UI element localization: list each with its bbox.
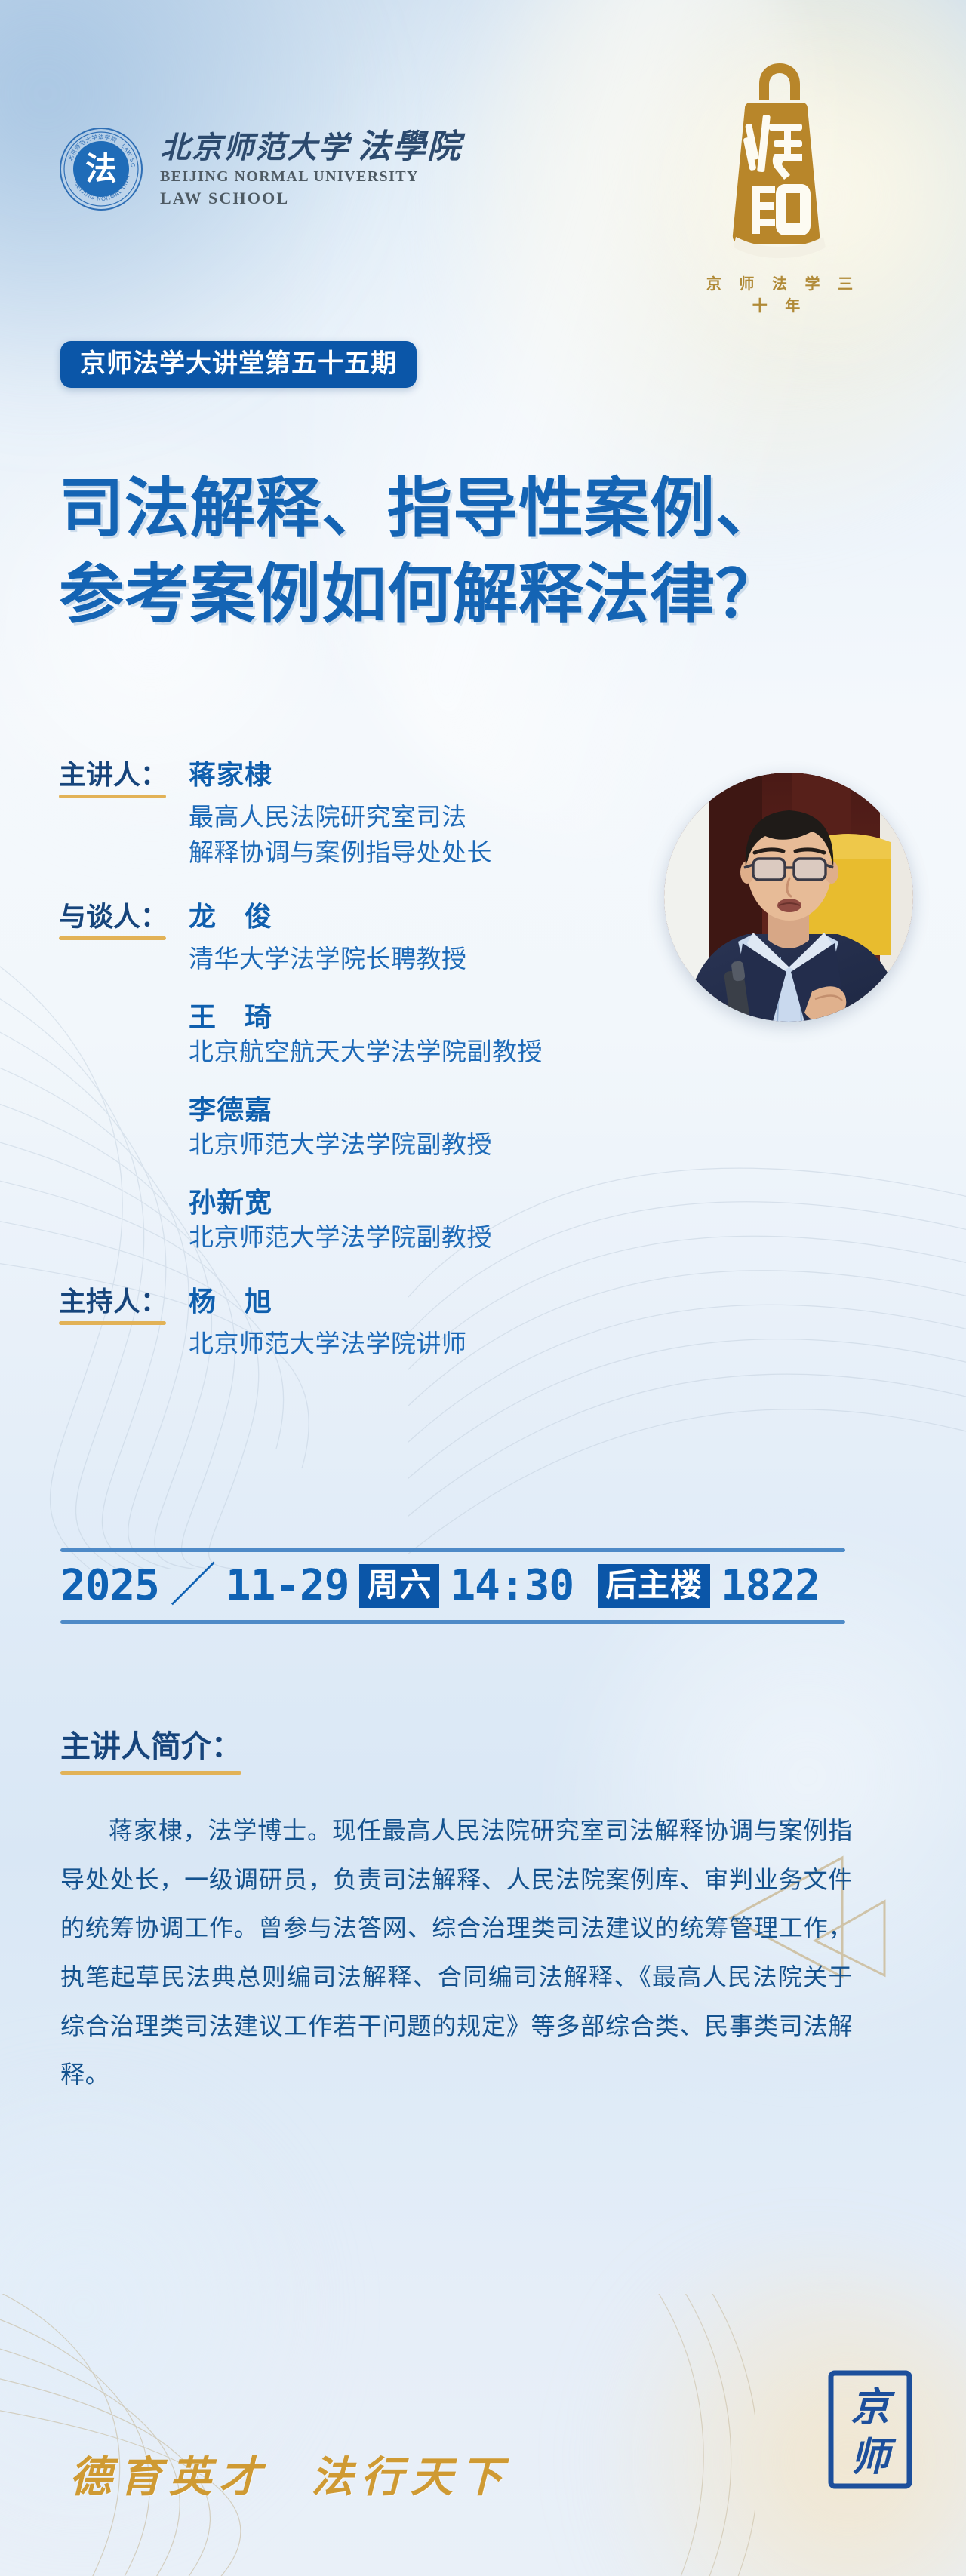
speaker-role-label: 主讲人： xyxy=(59,758,189,800)
discussant-role-label: 与谈人： xyxy=(59,899,189,942)
host-block: 主持人： 杨 旭 北京师范大学法学院讲师 xyxy=(59,1284,678,1362)
discussant-affiliation-3: 北京师范大学法学院副教授 xyxy=(189,1127,678,1163)
anniversary-caption: 京 师 法 学 三 十 年 xyxy=(685,272,874,315)
brand-unit-en: LAW SCHOOL xyxy=(160,189,462,208)
host-role-label: 主持人： xyxy=(59,1284,189,1326)
speaker-portrait xyxy=(664,773,913,1022)
host-affiliation: 北京师范大学法学院讲师 xyxy=(189,1326,678,1362)
schedule-weekday-chip: 周六 xyxy=(359,1564,439,1608)
discussant-name-1: 龙 俊 xyxy=(189,899,272,934)
svg-text:法: 法 xyxy=(85,152,117,187)
brand-name-chinese: 北京师范大学法學院 xyxy=(160,130,462,164)
bg-contour-lines-footer xyxy=(0,2294,755,2576)
discussant-name-3: 李德嘉 xyxy=(189,1093,678,1127)
discussant-name-4: 孙新宽 xyxy=(189,1185,678,1220)
event-poster: 法 北京师范大学法学院 · LAW SCHOOL BEIJING NORMAL … xyxy=(0,0,966,2576)
discussant-block-2: 王 琦 北京航空航天大学法学院副教授 xyxy=(59,1000,678,1070)
bio-heading: 主讲人简介： xyxy=(60,1722,241,1776)
brand-unit-cn: 法學院 xyxy=(358,128,462,165)
schedule-separator-icon: ／ xyxy=(170,1563,217,1609)
anniversary-emblem: 京 师 法 学 三 十 年 xyxy=(685,59,874,315)
footer-slogan: 德育英才法行天下 xyxy=(69,2443,510,2504)
schedule-month-day: 11-29 xyxy=(226,1565,349,1607)
brand-university-cn: 北京师范大学 xyxy=(160,131,350,164)
law-30-bell-emblem-icon xyxy=(685,59,874,263)
speaker-affiliation-line2: 解释协调与案例指导处处长 xyxy=(189,835,678,871)
gold-rule xyxy=(60,1771,241,1775)
jingshi-seal-icon: 京 师 xyxy=(827,2369,913,2490)
schedule-venue-room: 1822 xyxy=(721,1565,820,1607)
brand-lockup: 法 北京师范大学法学院 · LAW SCHOOL BEIJING NORMAL … xyxy=(59,127,462,211)
discussant-affiliation-4: 北京师范大学法学院副教授 xyxy=(189,1220,678,1256)
discussant-affiliation-2: 北京航空航天大学法学院副教授 xyxy=(189,1034,678,1070)
bio-text: 蒋家棣，法学博士。现任最高人民法院研究室司法解释协调与案例指导处处长，一级调研员… xyxy=(60,1806,853,2099)
footer-slogan-right: 法行天下 xyxy=(311,2455,510,2501)
schedule-year: 2025 xyxy=(60,1565,159,1607)
speaker-block: 主讲人： 蒋家棣 最高人民法院研究室司法 解释协调与案例指导处处长 xyxy=(59,758,678,871)
brand-text-block: 北京师范大学法學院 BEIJING NORMAL UNIVERSITY LAW … xyxy=(160,130,462,207)
schedule-time: 14:30 xyxy=(450,1565,574,1607)
title-line-1: 司法解释、指导性案例、 xyxy=(59,466,919,552)
discussant-affiliation-1: 清华大学法学院长聘教授 xyxy=(189,942,678,977)
svg-text:师: 师 xyxy=(851,2436,897,2479)
speaker-affiliation-line1: 最高人民法院研究室司法 xyxy=(189,800,678,835)
speaker-name: 蒋家棣 xyxy=(189,758,272,792)
title-line-2: 参考案例如何解释法律？ xyxy=(59,552,919,638)
people-section: 主讲人： 蒋家棣 最高人民法院研究室司法 解释协调与案例指导处处长 与谈人： 龙… xyxy=(59,758,678,1364)
schedule-bar: 2025 ／ 11-29 周六 14:30 后主楼 1822 xyxy=(60,1548,845,1624)
discussant-name-2: 王 琦 xyxy=(189,1000,678,1034)
discussant-block-3: 李德嘉 北京师范大学法学院副教授 xyxy=(59,1093,678,1163)
brand-university-en: BEIJING NORMAL UNIVERSITY xyxy=(160,168,462,186)
schedule-rule-top xyxy=(60,1548,845,1552)
gold-rule xyxy=(59,1321,166,1325)
bnu-law-school-seal-icon: 法 北京师范大学法学院 · LAW SCHOOL BEIJING NORMAL … xyxy=(59,127,143,211)
page-title: 司法解释、指导性案例、 参考案例如何解释法律？ xyxy=(59,466,919,638)
bio-section: 主讲人简介： 蒋家棣，法学博士。现任最高人民法院研究室司法解释协调与案例指导处处… xyxy=(60,1722,853,2099)
episode-badge: 京师法学大讲堂第五十五期 xyxy=(60,341,417,388)
gold-rule xyxy=(59,795,166,798)
discussant-block-1: 与谈人： 龙 俊 清华大学法学院长聘教授 xyxy=(59,899,678,977)
schedule-rule-bottom xyxy=(60,1620,845,1624)
poster-header: 法 北京师范大学法学院 · LAW SCHOOL BEIJING NORMAL … xyxy=(0,0,966,355)
schedule-venue-building-chip: 后主楼 xyxy=(598,1564,710,1608)
gold-rule xyxy=(59,936,166,940)
svg-text:京: 京 xyxy=(851,2386,896,2430)
host-name: 杨 旭 xyxy=(189,1284,272,1319)
footer-slogan-left: 德育英才 xyxy=(69,2455,269,2501)
discussant-block-4: 孙新宽 北京师范大学法学院副教授 xyxy=(59,1185,678,1256)
